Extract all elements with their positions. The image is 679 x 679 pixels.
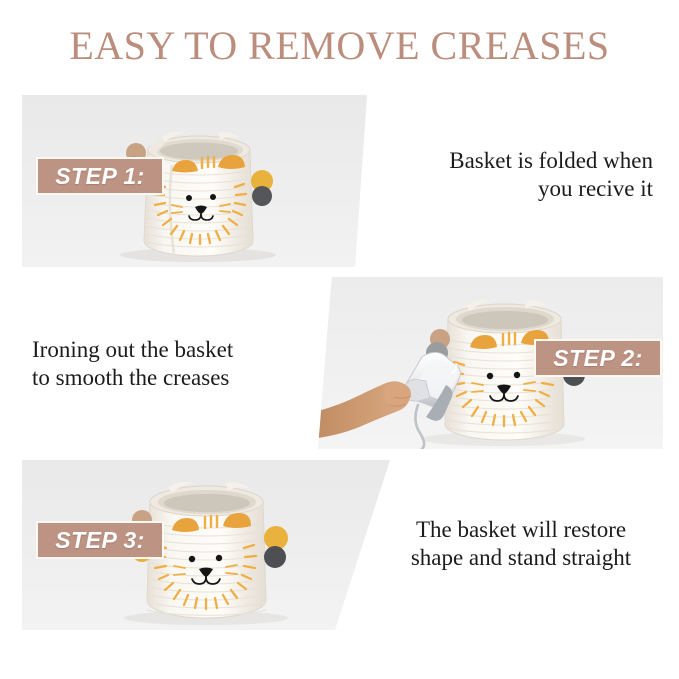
step-2-caption-line-1: Ironing out the basket	[32, 336, 317, 364]
step-1-badge: STEP 1:	[36, 157, 164, 195]
step-2-badge-label: STEP 2:	[553, 345, 643, 372]
step-1-caption-line-1: Basket is folded when	[375, 147, 653, 175]
step-1-caption: Basket is folded when you recive it	[375, 147, 653, 203]
step-2-badge: STEP 2:	[534, 339, 662, 377]
step-3-badge-label: STEP 3:	[55, 527, 145, 554]
step-1-caption-line-2: you recive it	[375, 175, 653, 203]
step-2-caption-line-2: to smooth the creases	[32, 364, 317, 392]
infographic-page: EASY TO REMOVE CREASES	[0, 0, 679, 679]
page-title: EASY TO REMOVE CREASES	[0, 22, 679, 69]
step-3-caption: The basket will restore shape and stand …	[373, 516, 669, 572]
step-2-caption: Ironing out the basket to smooth the cre…	[32, 336, 317, 392]
step-3-badge: STEP 3:	[36, 521, 164, 559]
step-3-caption-line-2: shape and stand straight	[373, 544, 669, 572]
step-1-badge-label: STEP 1:	[55, 163, 145, 190]
step-3-caption-line-1: The basket will restore	[373, 516, 669, 544]
